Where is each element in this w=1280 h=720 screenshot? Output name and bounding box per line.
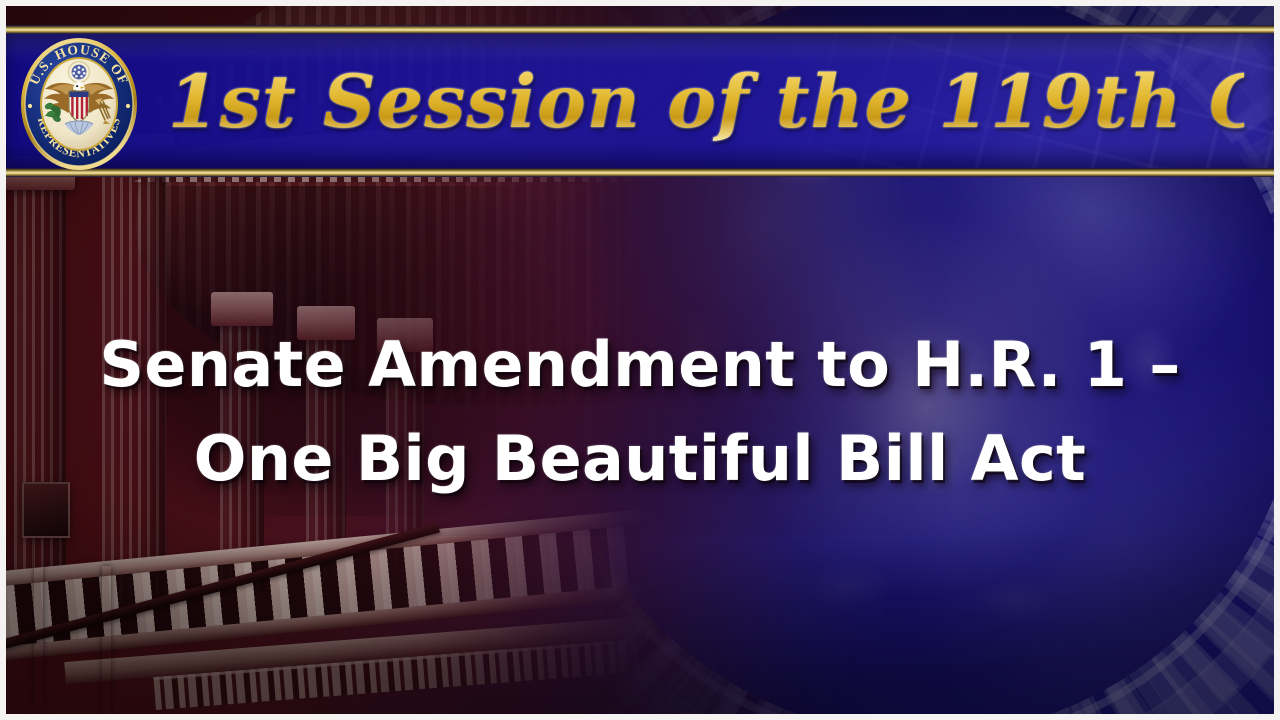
congress-banner: 1st Session of the 119th Congress — [0, 25, 1280, 177]
banner-gold-trim-top — [0, 25, 1280, 34]
house-seal-icon: U.S. HOUSE OF REPRESENTATIVES — [13, 28, 145, 176]
title-line-1: Senate Amendment to H.R. 1 – — [0, 318, 1280, 412]
banner-gold-trim-bottom — [0, 168, 1280, 177]
broadcast-slate: 1st Session of the 119th Congress — [0, 0, 1280, 720]
title-line-2: One Big Beautiful Bill Act — [0, 412, 1280, 506]
page-title: Senate Amendment to H.R. 1 – One Big Bea… — [0, 318, 1280, 506]
banner-title: 1st Session of the 119th Congress — [168, 47, 1244, 157]
